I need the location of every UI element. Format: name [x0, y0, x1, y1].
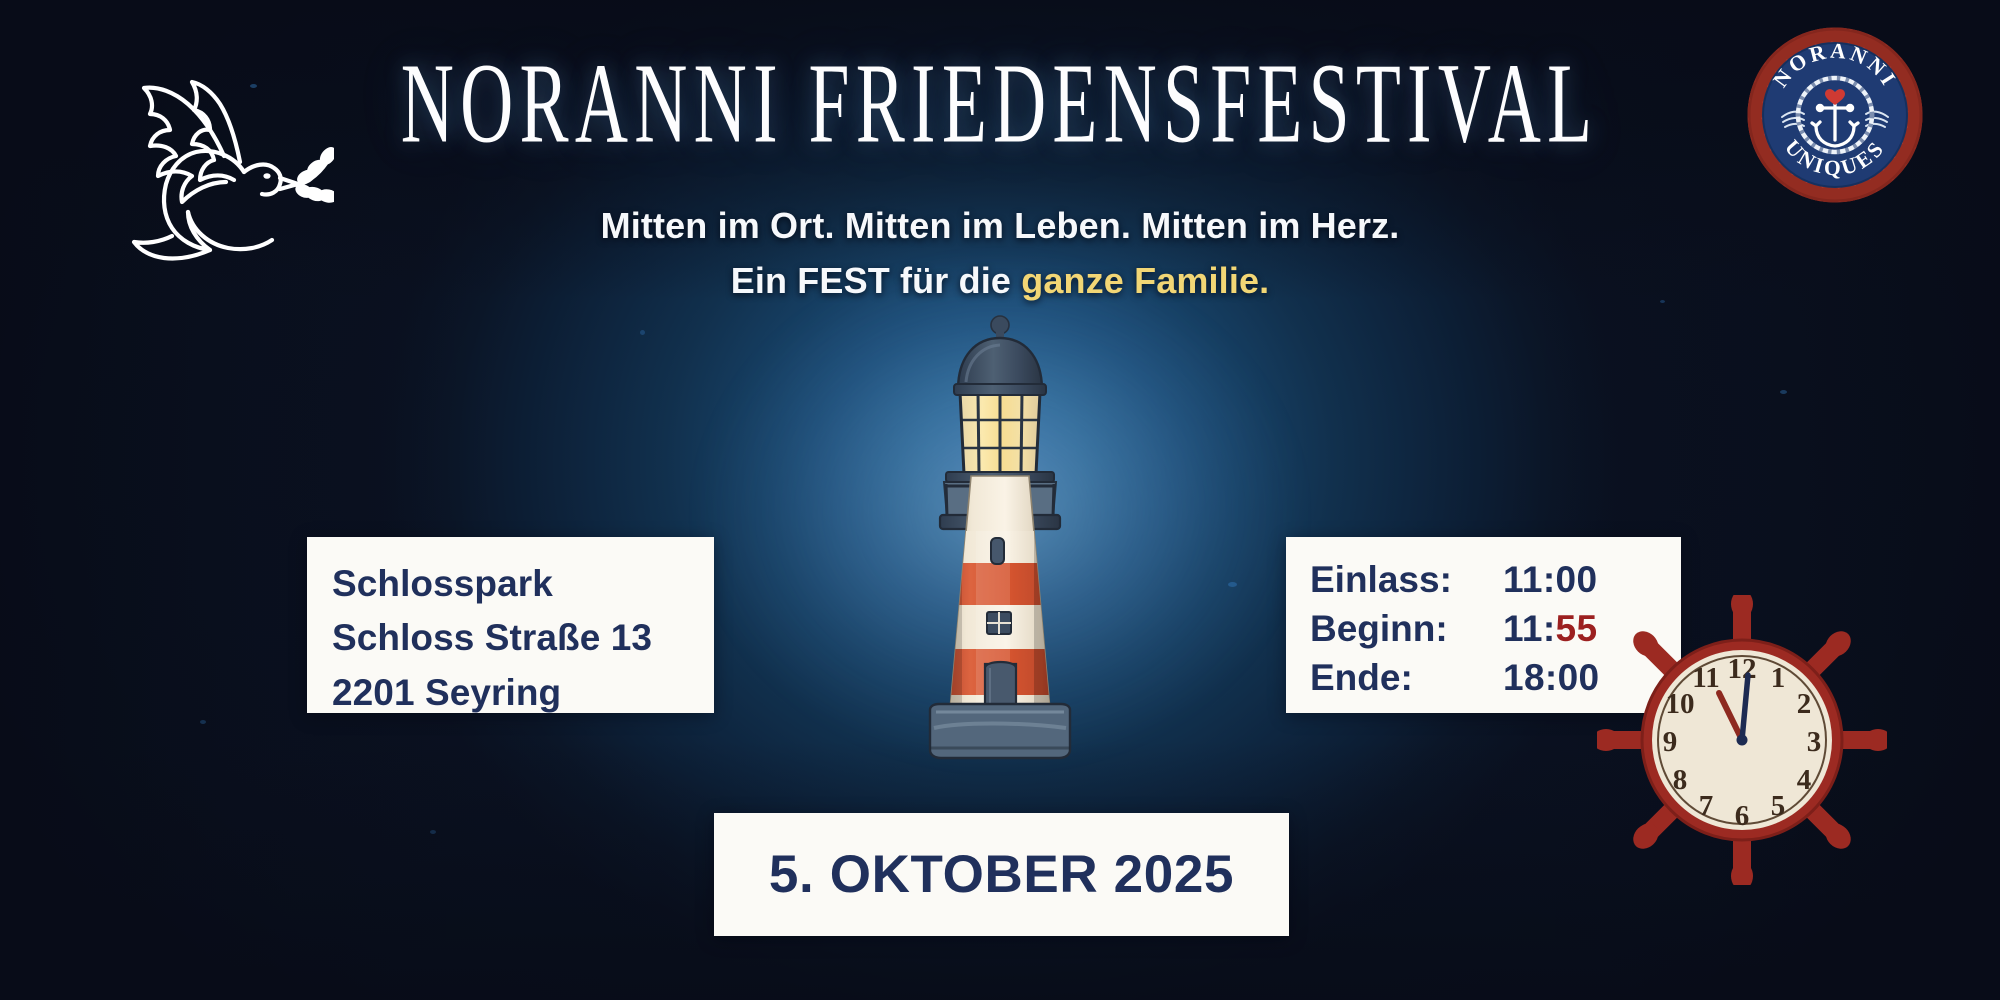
star-speck: [1228, 582, 1237, 587]
poster-canvas: NORANNI UNIQUES: [0, 0, 2000, 1000]
subtitle-line-1: Mitten im Ort. Mitten im Leben. Mitten i…: [0, 203, 2000, 250]
subtitle-block: Mitten im Ort. Mitten im Leben. Mitten i…: [0, 203, 2000, 305]
venue-line-1: Schlosspark: [332, 557, 714, 611]
venue-line-2: Schloss Straße 13: [332, 611, 714, 665]
event-date-text: 5. OKTOBER 2025: [769, 844, 1234, 905]
svg-text:10: 10: [1666, 688, 1695, 720]
svg-text:7: 7: [1699, 790, 1714, 822]
noranni-uniques-logo: NORANNI UNIQUES: [1742, 22, 1928, 208]
clock-center-pin: [1737, 735, 1748, 746]
star-speck: [200, 720, 206, 724]
anchor-icon: [1812, 101, 1858, 146]
time-value-einlass: 11:00: [1503, 556, 1597, 605]
lighthouse-illustration: [890, 312, 1110, 792]
time-label-einlass: Einlass:: [1310, 556, 1503, 605]
venue-address-box: Schlosspark Schloss Straße 13 2201 Seyri…: [307, 537, 714, 713]
svg-text:3: 3: [1807, 726, 1822, 758]
svg-text:4: 4: [1797, 764, 1812, 796]
time-value-ende: 18:00: [1503, 654, 1599, 703]
svg-text:9: 9: [1663, 726, 1678, 758]
svg-text:2: 2: [1797, 688, 1812, 720]
svg-text:11: 11: [1692, 662, 1719, 694]
star-speck: [430, 830, 436, 834]
time-label-ende: Ende:: [1310, 654, 1503, 703]
ships-wheel-clock-icon: 12 1 2 3 4 5 6 7 8 9 10 11: [1597, 595, 1887, 885]
svg-text:8: 8: [1673, 764, 1688, 796]
svg-text:6: 6: [1735, 800, 1750, 832]
time-value-beginn: 11:: [1503, 605, 1556, 654]
subtitle-line-2: Ein FEST für die ganze Familie.: [0, 258, 2000, 305]
event-date-box: 5. OKTOBER 2025: [714, 813, 1289, 936]
svg-text:1: 1: [1771, 662, 1786, 694]
subtitle-line-2-accent: ganze Familie.: [1021, 260, 1269, 301]
subtitle-line-2-plain: Ein FEST für die: [731, 260, 1021, 301]
time-value-beginn-accent: 55: [1556, 605, 1598, 654]
venue-line-3: 2201 Seyring: [332, 666, 714, 720]
time-label-beginn: Beginn:: [1310, 605, 1503, 654]
svg-text:5: 5: [1771, 790, 1786, 822]
star-speck: [1780, 390, 1787, 394]
star-speck: [640, 330, 645, 335]
svg-text:12: 12: [1728, 653, 1757, 685]
